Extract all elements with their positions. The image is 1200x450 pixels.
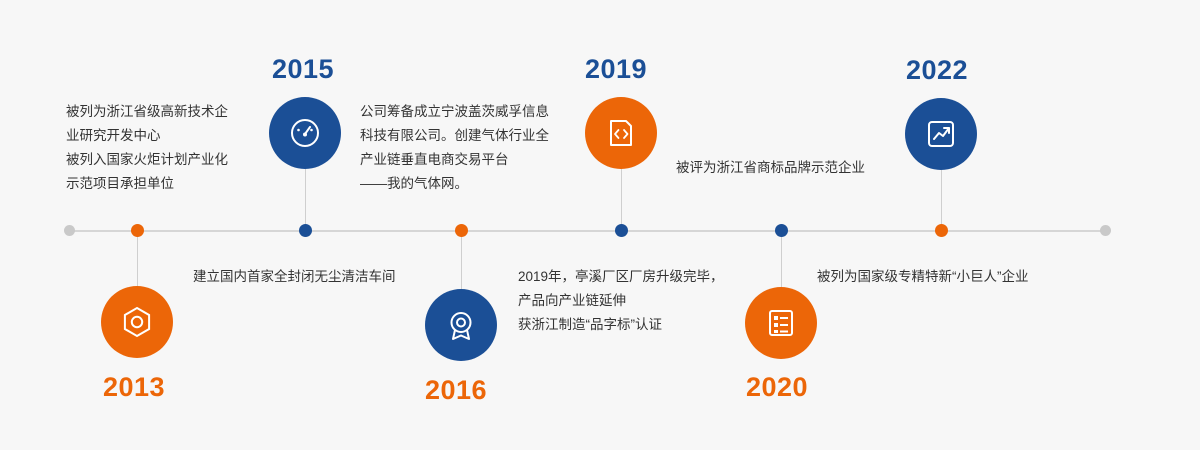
year-2022: 2022 (906, 55, 968, 86)
timeline-diagram: 2013 被列为浙江省级高新技术企 业研究开发中心 被列入国家火炬计划产业化 示… (0, 0, 1200, 450)
node-dot-2016[interactable] (455, 224, 468, 237)
axis-start-dot (64, 225, 75, 236)
stem-2019 (621, 160, 622, 232)
badge-2019[interactable] (585, 97, 657, 169)
badge-2020[interactable] (745, 287, 817, 359)
growth-chart-icon (924, 117, 958, 151)
stem-2013 (137, 231, 138, 286)
award-badge-icon (444, 308, 478, 342)
year-2016: 2016 (425, 375, 487, 406)
node-dot-2013[interactable] (131, 224, 144, 237)
node-dot-2022[interactable] (935, 224, 948, 237)
gauge-meter-icon (288, 116, 322, 150)
desc-2016: 公司筹备成立宁波盖茨威孚信息 科技有限公司。创建气体行业全 产业链垂直电商交易平… (360, 100, 610, 196)
hexagon-gear-icon (120, 305, 154, 339)
node-dot-2020[interactable] (775, 224, 788, 237)
desc-2015: 建立国内首家全封闭无尘清洁车间 (193, 265, 513, 289)
badge-2022[interactable] (905, 98, 977, 170)
badge-2015[interactable] (269, 97, 341, 169)
timeline-axis (68, 230, 1106, 232)
list-document-icon (764, 306, 798, 340)
node-dot-2015[interactable] (299, 224, 312, 237)
badge-2013[interactable] (101, 286, 173, 358)
axis-end-dot (1100, 225, 1111, 236)
code-document-icon (604, 116, 638, 150)
badge-2016[interactable] (425, 289, 497, 361)
desc-2013: 被列为浙江省级高新技术企 业研究开发中心 被列入国家火炬计划产业化 示范项目承担… (66, 100, 276, 196)
node-dot-2019[interactable] (615, 224, 628, 237)
year-2015: 2015 (272, 54, 334, 85)
desc-2022: 被列为国家级专精特新“小巨人”企业 (817, 265, 1137, 289)
year-2019: 2019 (585, 54, 647, 85)
year-2013: 2013 (103, 372, 165, 403)
year-2020: 2020 (746, 372, 808, 403)
